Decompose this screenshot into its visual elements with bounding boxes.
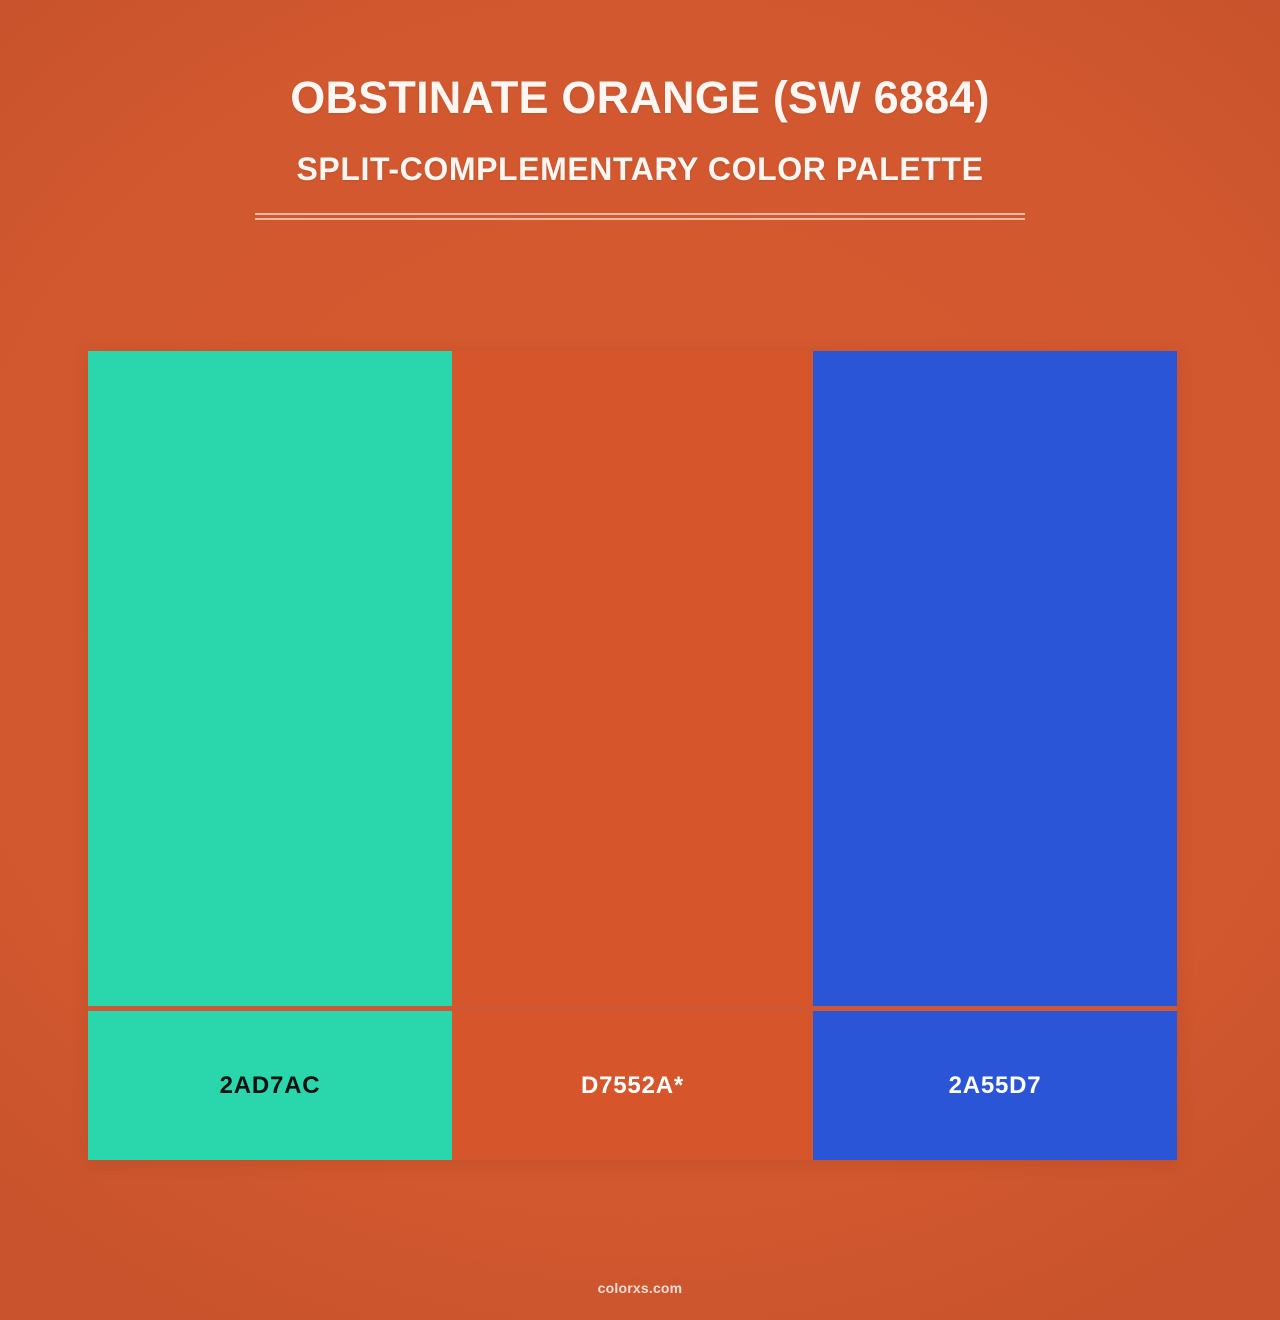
site-watermark: colorxs.com xyxy=(0,1280,1280,1296)
swatch-label-area: 2AD7AC xyxy=(88,1011,452,1160)
swatch-color-block xyxy=(452,351,813,1006)
footer: colorxs.com xyxy=(0,1280,1280,1296)
swatch-hex-label: D7552A* xyxy=(581,1072,684,1100)
palette-page: OBSTINATE ORANGE (SW 6884) SPLIT-COMPLEM… xyxy=(0,0,1280,1320)
swatch-label-area: 2A55D7 xyxy=(813,1011,1177,1160)
divider-line-top xyxy=(255,213,1025,215)
header-divider xyxy=(255,213,1025,220)
color-swatch[interactable]: 2AD7AC xyxy=(88,351,452,1160)
header: OBSTINATE ORANGE (SW 6884) SPLIT-COMPLEM… xyxy=(0,0,1280,220)
page-subtitle: SPLIT-COMPLEMENTARY COLOR PALETTE xyxy=(0,151,1280,188)
divider-line-bottom xyxy=(255,218,1025,220)
swatch-hex-label: 2A55D7 xyxy=(949,1072,1042,1100)
color-swatch[interactable]: D7552A* xyxy=(452,351,813,1160)
color-swatch[interactable]: 2A55D7 xyxy=(813,351,1177,1160)
page-title: OBSTINATE ORANGE (SW 6884) xyxy=(0,72,1280,123)
swatch-color-block xyxy=(88,351,452,1006)
swatch-hex-label: 2AD7AC xyxy=(220,1072,321,1100)
color-palette: 2AD7ACD7552A*2A55D7 xyxy=(88,351,1177,1160)
swatch-label-area: D7552A* xyxy=(452,1011,813,1160)
swatch-color-block xyxy=(813,351,1177,1006)
